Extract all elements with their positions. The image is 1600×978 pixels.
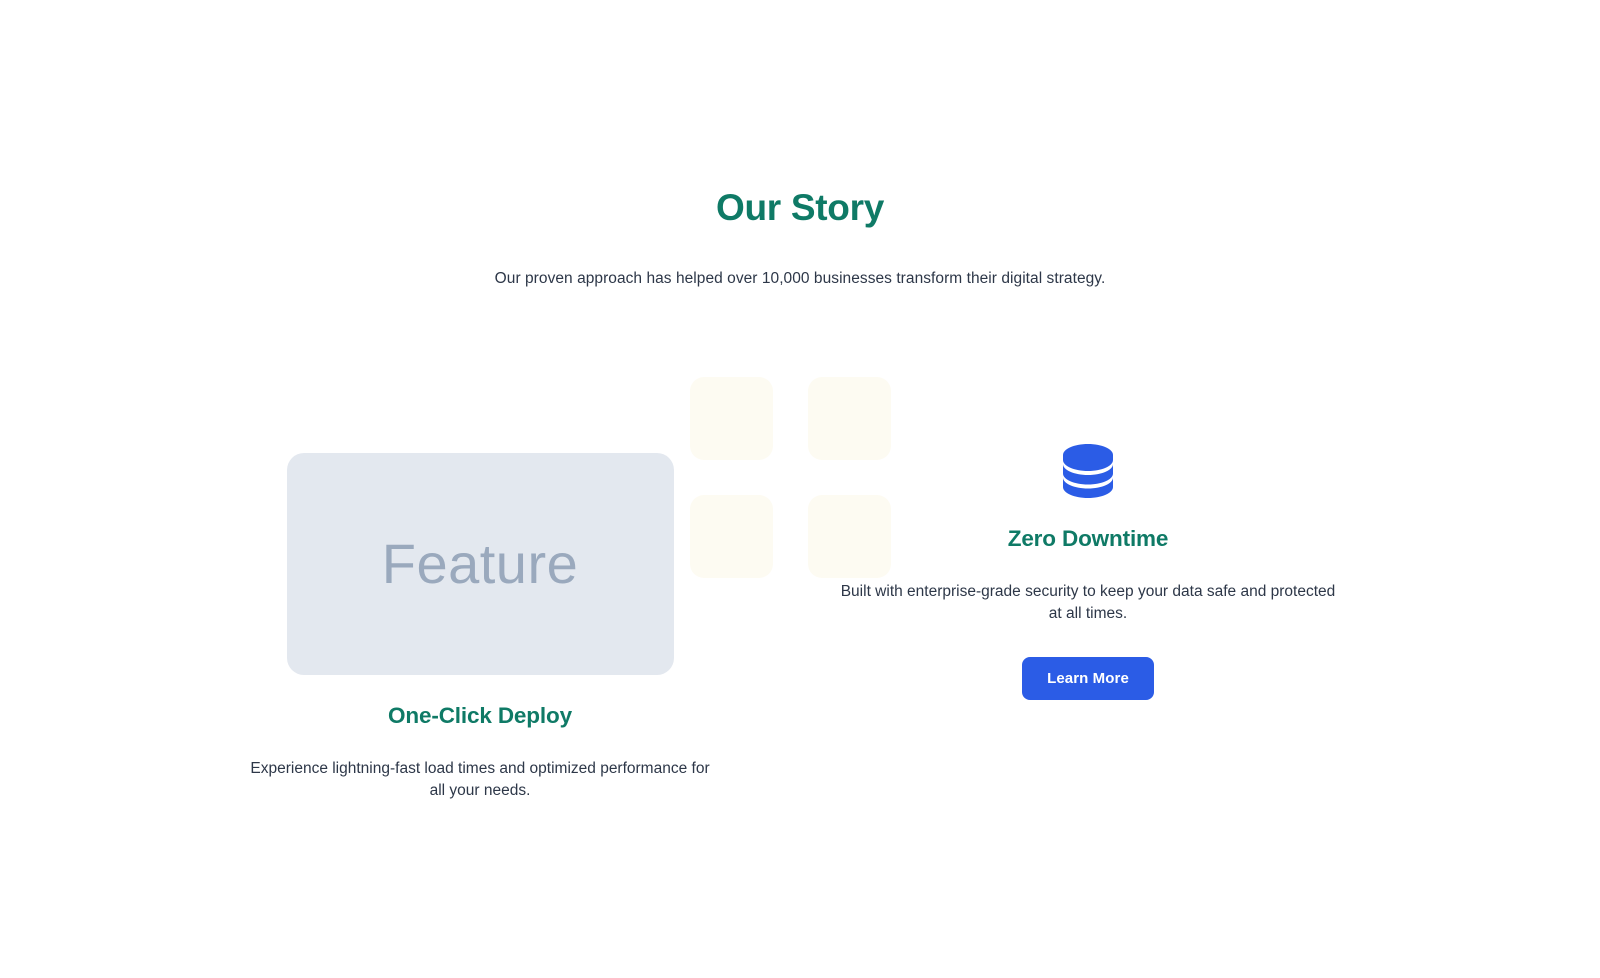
cta-row: Learn More — [838, 624, 1338, 700]
feature-description-left: Experience lightning-fast load times and… — [245, 730, 715, 801]
page-root: Our Story Our proven approach has helped… — [0, 0, 1600, 978]
feature-title-left: One-Click Deploy — [245, 675, 715, 730]
feature-image-placeholder: Feature — [287, 453, 674, 675]
page-title: Our Story — [0, 186, 1600, 230]
feature-description-right: Built with enterprise-grade security to … — [838, 553, 1338, 624]
section-header: Our Story Our proven approach has helped… — [0, 186, 1600, 290]
feature-image-placeholder-label: Feature — [382, 536, 579, 592]
section-subtitle: Our proven approach has helped over 10,0… — [0, 230, 1600, 290]
feature-title-right: Zero Downtime — [838, 499, 1338, 553]
decorative-tile-top-left — [690, 377, 773, 460]
feature-card-one-click-deploy: Feature One-Click Deploy Experience ligh… — [245, 453, 715, 801]
database-icon — [1062, 443, 1114, 499]
feature-card-zero-downtime: Zero Downtime Built with enterprise-grad… — [838, 443, 1338, 700]
learn-more-button[interactable]: Learn More — [1022, 657, 1154, 700]
